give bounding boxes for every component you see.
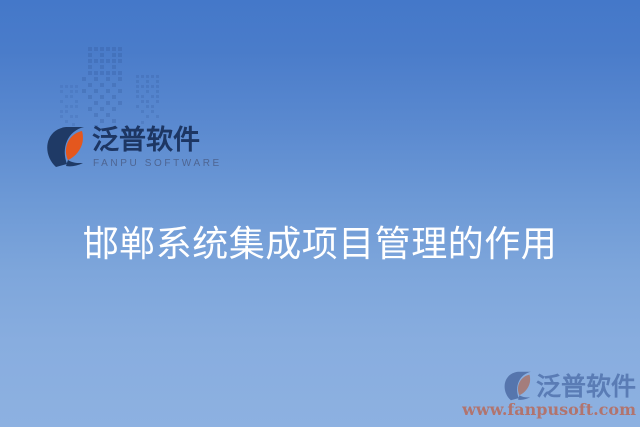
watermark-logo-row: 泛普软件 bbox=[462, 371, 636, 401]
watermark-name-cn: 泛普软件 bbox=[536, 374, 636, 399]
pixel-mosaic-pattern-icon bbox=[60, 45, 172, 135]
brand-name-en: FANPU SOFTWARE bbox=[92, 158, 222, 169]
slide-canvas: 泛普软件 FANPU SOFTWARE 邯郸系统集成项目管理的作用 泛普软件 w… bbox=[0, 0, 640, 427]
page-title: 邯郸系统集成项目管理的作用 bbox=[0, 222, 640, 268]
fanpu-logo-mark-icon bbox=[503, 371, 533, 401]
watermark-url: www.fanpusoft.com bbox=[462, 402, 636, 419]
brand-name-cn: 泛普软件 bbox=[92, 127, 222, 156]
brand-wordmark: 泛普软件 FANPU SOFTWARE bbox=[92, 126, 222, 169]
watermark: 泛普软件 www.fanpusoft.com bbox=[462, 371, 636, 419]
brand-logo: 泛普软件 FANPU SOFTWARE bbox=[46, 126, 222, 169]
fanpu-logo-mark-icon bbox=[46, 126, 86, 168]
